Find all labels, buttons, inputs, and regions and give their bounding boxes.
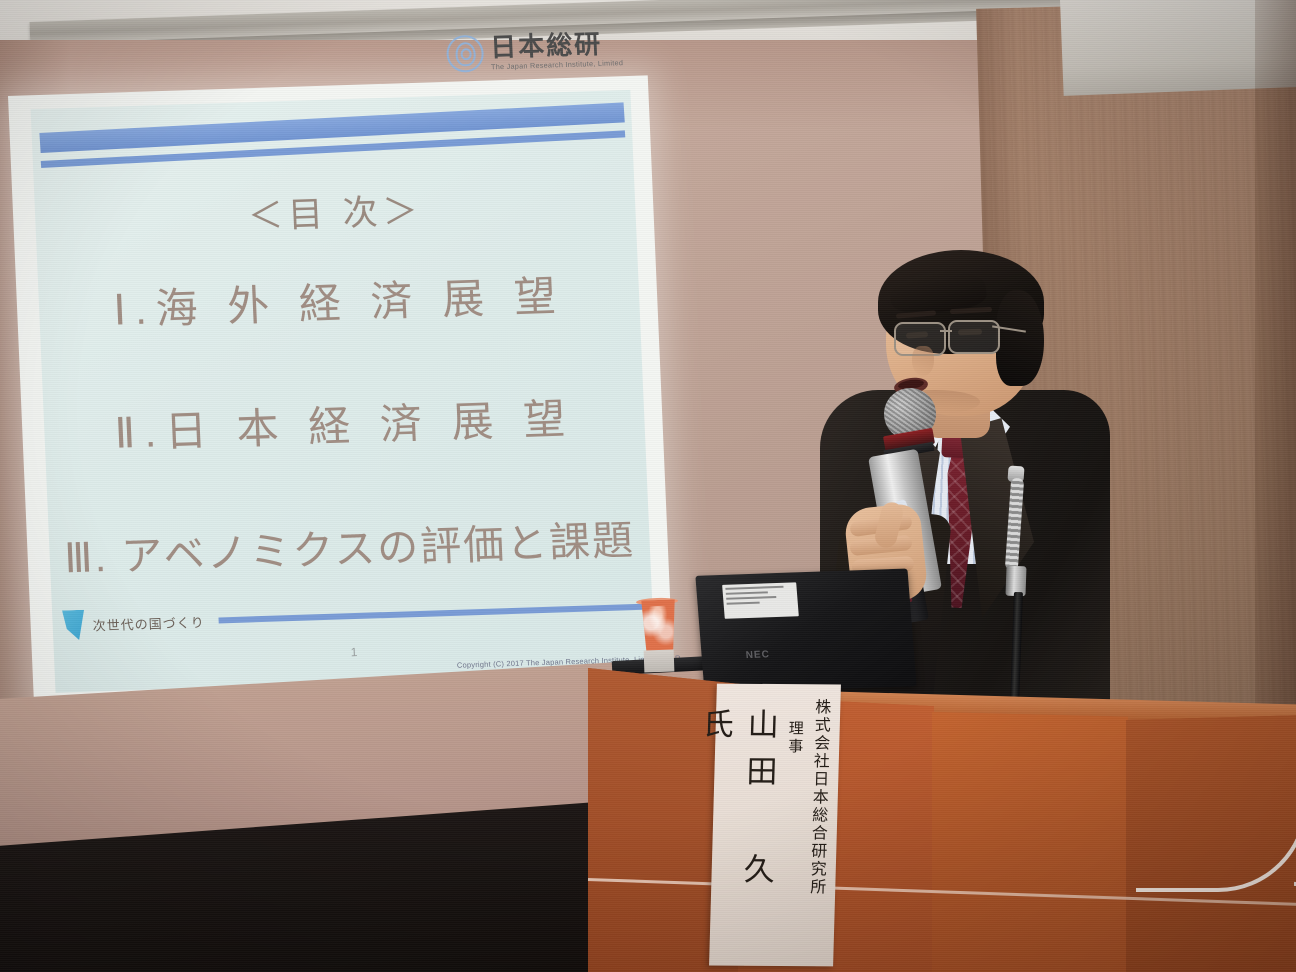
slide-logo: 日本総研 The Japan Research Institute, Limit… (446, 30, 624, 73)
podium-panel-center-right (932, 712, 1128, 972)
nameplate-name: 山田 久 氏 (686, 707, 783, 956)
eyeglasses-bridge (940, 330, 952, 332)
toc-item: Ⅲ. アベノミクスの評価と課題 (46, 444, 651, 585)
slide-tagline: 次世代の国づくり (92, 611, 205, 634)
hair-side (996, 290, 1044, 386)
slide-footer: 次世代の国づくり (62, 592, 645, 641)
speaker-nameplate: 株式会社日本総合研究所 理事 山田 久 氏 (709, 684, 841, 967)
flag-swoosh-icon (62, 610, 85, 641)
logo-text: 日本総研 The Japan Research Institute, Limit… (490, 31, 624, 71)
table-of-contents: Ⅰ.海 外 経 済 展 望 Ⅱ.日 本 経 済 展 望 Ⅲ. アベノミクスの評価… (37, 240, 651, 585)
projection-screen: 日本総研 The Japan Research Institute, Limit… (8, 75, 674, 711)
logo-japanese: 日本総研 (490, 31, 623, 61)
laptop-asset-label (722, 582, 799, 618)
presentation-photo-scene: 日本総研 The Japan Research Institute, Limit… (0, 0, 1296, 972)
white-cable (1136, 688, 1296, 892)
slide-title: ＜目 次＞ (34, 176, 636, 246)
toc-item: Ⅱ.日 本 経 済 展 望 (40, 321, 645, 463)
slide: 日本総研 The Japan Research Institute, Limit… (31, 90, 656, 693)
spiral-circle-logo-icon (446, 35, 485, 73)
footer-rule (218, 604, 644, 624)
nose (912, 346, 934, 376)
nameplate-organization: 株式会社日本総合研究所 (801, 698, 832, 956)
